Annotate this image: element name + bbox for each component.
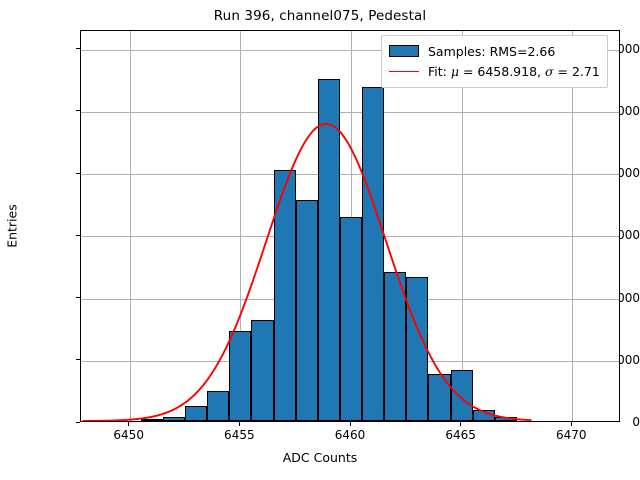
- gaussian-fit-curve: [81, 31, 619, 421]
- chart-title: Run 396, channel075, Pedestal: [0, 8, 640, 24]
- legend-fit-mu-symbol: μ: [451, 64, 459, 79]
- chart-legend: Samples: RMS=2.66 Fit: μ = 6458.918, σ =…: [381, 35, 608, 88]
- legend-fit-sigma-symbol: σ: [545, 64, 554, 79]
- legend-fit-sigma-value: = 2.71: [554, 64, 600, 79]
- x-tick-mark: [571, 422, 572, 426]
- legend-fit-mu-value: = 6458.918,: [459, 64, 545, 79]
- legend-label-fit: Fit: μ = 6458.918, σ = 2.71: [428, 64, 600, 79]
- x-tick-label: 6470: [556, 428, 587, 442]
- legend-item-samples: Samples: RMS=2.66: [389, 41, 600, 61]
- plot-area: [80, 30, 620, 422]
- x-axis-label: ADC Counts: [0, 450, 640, 465]
- legend-fit-prefix: Fit:: [428, 64, 451, 79]
- legend-line-icon: [389, 71, 419, 72]
- x-tick-mark: [460, 422, 461, 426]
- x-tick-label: 6450: [113, 428, 144, 442]
- x-tick-mark: [239, 422, 240, 426]
- y-axis-label: Entries: [5, 204, 20, 248]
- legend-item-fit: Fit: μ = 6458.918, σ = 2.71: [389, 61, 600, 81]
- x-tick-mark: [350, 422, 351, 426]
- chart-figure: Run 396, channel075, Pedestal Entries AD…: [0, 0, 640, 480]
- x-tick-mark: [128, 422, 129, 426]
- x-tick-label: 6465: [445, 428, 476, 442]
- x-tick-label: 6455: [224, 428, 255, 442]
- x-tick-label: 6460: [335, 428, 366, 442]
- legend-label-samples: Samples: RMS=2.66: [428, 44, 555, 59]
- legend-patch-icon: [389, 45, 419, 57]
